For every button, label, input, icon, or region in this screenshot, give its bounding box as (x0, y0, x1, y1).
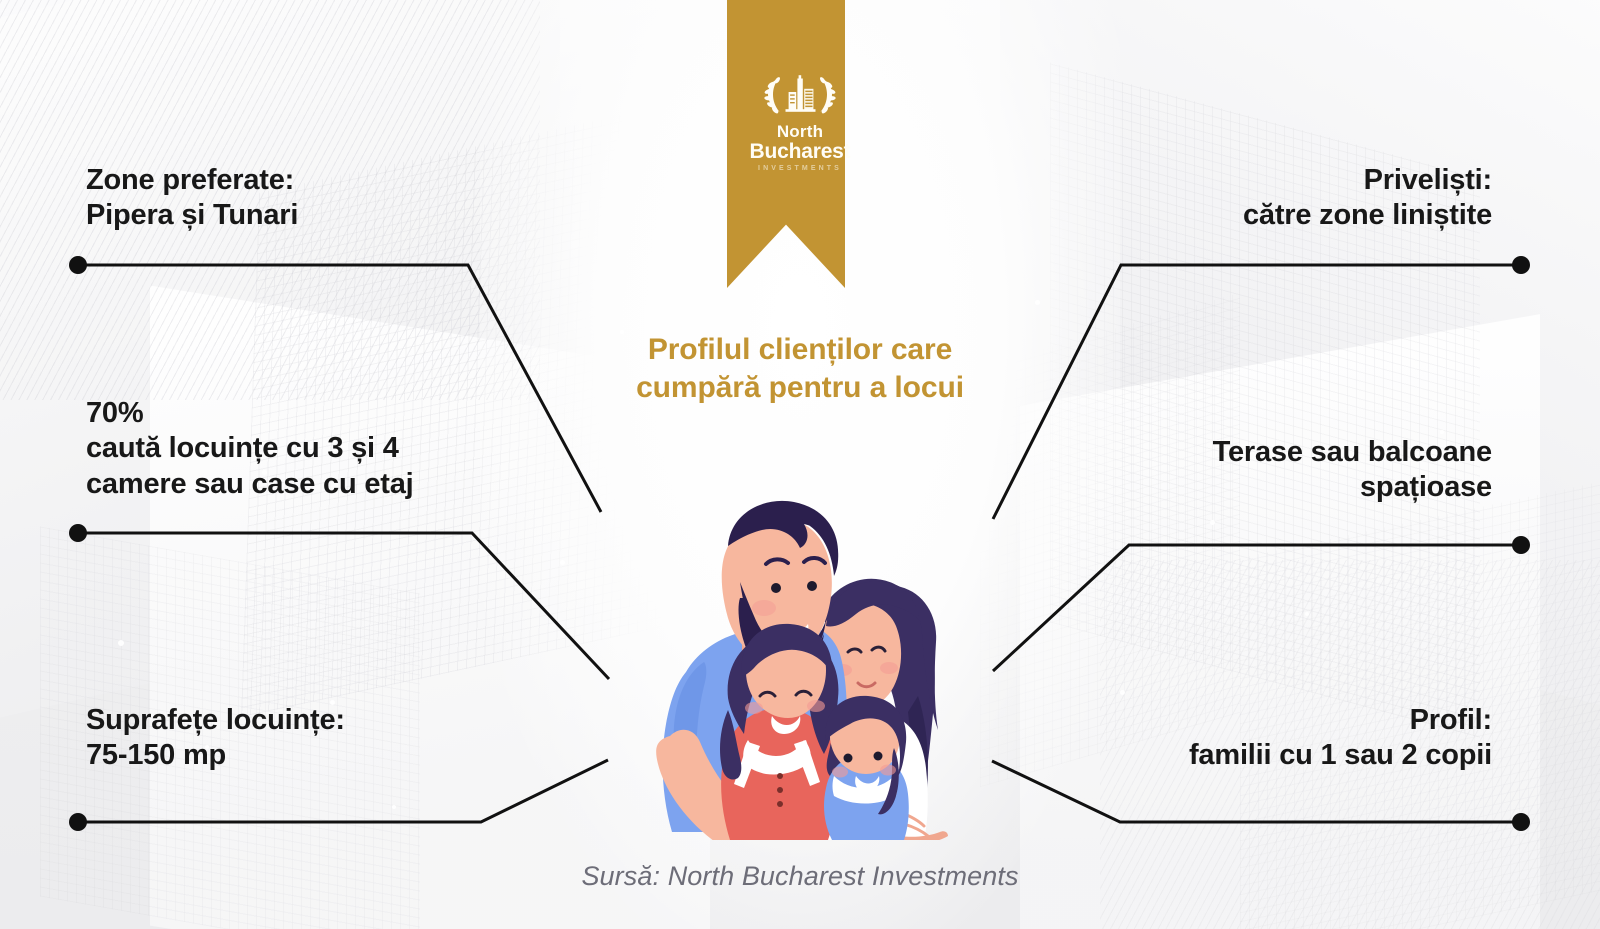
callout-line: Suprafețe locuințe: (86, 703, 345, 738)
callout-procent-camere: 70% caută locuințe cu 3 și 4 camere sau … (86, 396, 414, 502)
callout-line: spațioase (1213, 470, 1492, 505)
callout-terase: Terase sau balcoane spațioase (1213, 435, 1492, 506)
infographic-canvas: North Bucharest INVESTMENTS (0, 0, 1600, 929)
connector-right-2 (993, 545, 1521, 671)
connector-dot-left-1 (69, 256, 87, 274)
callout-zone-preferate: Zone preferate: Pipera și Tunari (86, 163, 298, 234)
callout-line: 75-150 mp (86, 738, 345, 773)
speck (560, 560, 565, 565)
boy-blush-right (880, 765, 896, 776)
callout-line: către zone liniștite (1243, 198, 1492, 233)
callout-profil-familie: Profil: familii cu 1 sau 2 copii (1189, 703, 1492, 774)
callout-suprafete: Suprafețe locuințe: 75-150 mp (86, 703, 345, 774)
logo-line-1: North (746, 123, 854, 141)
connector-dot-left-3 (69, 813, 87, 831)
girl-blush-left (745, 702, 763, 714)
boy-blush-left (832, 767, 848, 778)
speck (1210, 520, 1215, 525)
speck (1440, 430, 1444, 434)
father-blush (752, 600, 776, 616)
laurel-wreath-building-logo-icon (758, 72, 842, 118)
source-note: Sursă: North Bucharest Investments (0, 861, 1600, 892)
girl-blush-right (807, 700, 825, 712)
center-title-line-2: cumpără pentru a locui (0, 369, 1600, 407)
callout-line: familii cu 1 sau 2 copii (1189, 738, 1492, 773)
connector-dot-right-3 (1512, 813, 1530, 831)
brand-logo: North Bucharest INVESTMENTS (746, 72, 854, 172)
speck (1120, 690, 1125, 695)
speck (1035, 300, 1040, 305)
callout-line: caută locuințe cu 3 și 4 (86, 431, 414, 466)
callout-line: Priveliști: (1243, 163, 1492, 198)
mother-blush-right (880, 662, 898, 674)
center-title: Profilul clienților care cumpără pentru … (0, 331, 1600, 408)
callout-line: camere sau case cu etaj (86, 467, 414, 502)
connector-dot-right-1 (1512, 256, 1530, 274)
callout-line: Zone preferate: (86, 163, 298, 198)
connector-dot-left-2 (69, 524, 87, 542)
center-title-line-1: Profilul clienților care (0, 331, 1600, 369)
speck (1305, 612, 1309, 616)
callout-line: Profil: (1189, 703, 1492, 738)
family-illustration (600, 440, 1000, 840)
girl-dress-buttons (777, 773, 783, 807)
logo-subtitle: INVESTMENTS (746, 165, 854, 172)
callout-line: Terase sau balcoane (1213, 435, 1492, 470)
connector-left-2 (78, 533, 609, 679)
speck (392, 805, 396, 809)
speck (118, 640, 124, 646)
callout-privelisti: Priveliști: către zone liniștite (1243, 163, 1492, 234)
callout-line: Pipera și Tunari (86, 198, 298, 233)
logo-line-2: Bucharest (746, 141, 854, 162)
connector-dot-right-2 (1512, 536, 1530, 554)
